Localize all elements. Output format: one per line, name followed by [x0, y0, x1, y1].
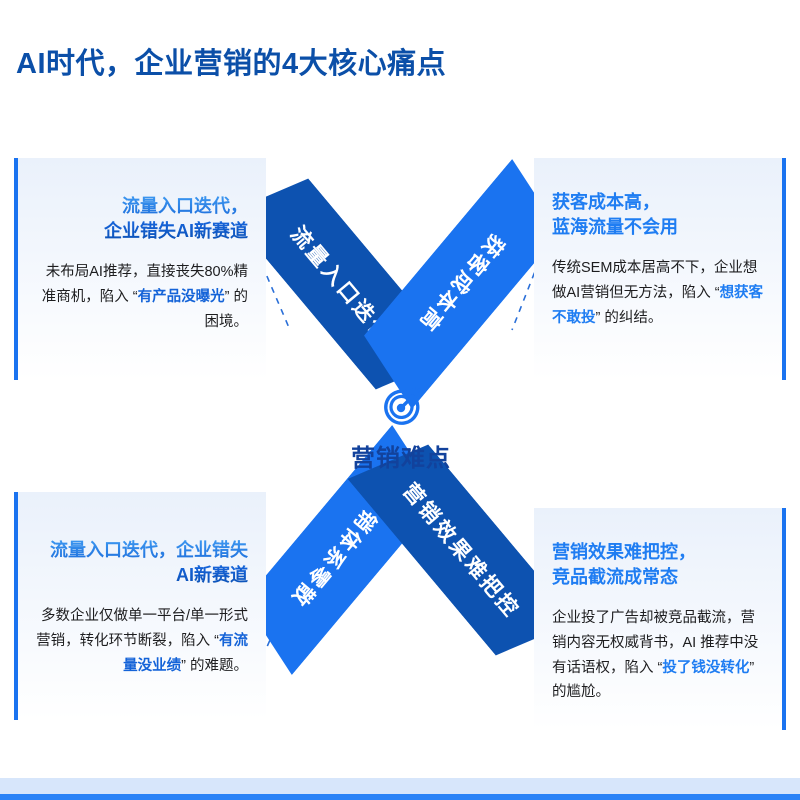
card-heading-line2: AI新赛道: [176, 565, 248, 585]
card-heading: 营销效果难把控， 竞品截流成常态: [552, 540, 764, 590]
card-body-suffix: ” 的纠结。: [596, 310, 663, 326]
diamond-center-hub: 营销难点: [238, 384, 564, 473]
card-heading-line1: 获客成本高，: [552, 192, 660, 212]
bottom-rule: [0, 794, 800, 800]
central-diamond: 流量入口迭代 获客成本高 营销体系零散 营销效果难把控 营销难点: [238, 188, 564, 718]
card-body: 传统SEM成本居高不下，企业想做AI营销但无方法，陷入 “想获客不敢投” 的纠结…: [552, 256, 764, 331]
card-body-highlight: 有产品没曝光: [138, 289, 225, 305]
pain-point-card-bottom-right[interactable]: 营销效果难把控， 竞品截流成常态 企业投了广告却被竞品截流，营销内容无权威背书，…: [534, 508, 786, 730]
card-heading-line2: 竞品截流成常态: [552, 567, 678, 587]
diamond-center-label: 营销难点: [351, 438, 451, 473]
target-goal-icon: [377, 384, 425, 432]
card-body: 多数企业仅做单一平台/单一形式营销，转化环节断裂，陷入 “有流量没业绩” 的难题…: [36, 604, 248, 679]
card-heading-line1: 流量入口迭代，企业错失: [50, 540, 248, 560]
card-heading: 流量入口迭代，企业错失 AI新赛道: [36, 538, 248, 588]
pain-point-card-top-left[interactable]: 流量入口迭代， 企业错失AI新赛道 未布局AI推荐，直接丧失80%精准商机，陷入…: [14, 158, 266, 380]
card-heading: 获客成本高， 蓝海流量不会用: [552, 190, 764, 240]
card-heading-line2: 企业错失AI新赛道: [104, 221, 248, 241]
card-body-highlight: 投了钱没转化: [662, 660, 749, 676]
infographic-page: AI时代，企业营销的4大核心痛点 流量入口迭代 获客成本高 营销体系零散 营销效…: [0, 0, 800, 800]
card-body-suffix: ” 的难题。: [181, 658, 248, 674]
card-body-prefix: 多数企业仅做单一平台/单一形式营销，转化环节断裂，陷入 “: [36, 608, 248, 649]
pain-point-card-top-right[interactable]: 获客成本高， 蓝海流量不会用 传统SEM成本居高不下，企业想做AI营销但无方法，…: [534, 158, 786, 380]
diamond-segment-label: 获客成本高: [412, 228, 512, 339]
card-body: 未布局AI推荐，直接丧失80%精准商机，陷入 “有产品没曝光” 的困境。: [36, 260, 248, 335]
diamond-segment-label: 营销效果难把控: [397, 476, 528, 624]
card-heading-line1: 营销效果难把控，: [552, 542, 696, 562]
pain-point-card-bottom-left[interactable]: 流量入口迭代，企业错失 AI新赛道 多数企业仅做单一平台/单一形式营销，转化环节…: [14, 492, 266, 720]
page-title: AI时代，企业营销的4大核心痛点: [16, 40, 446, 82]
card-heading: 流量入口迭代， 企业错失AI新赛道: [36, 194, 248, 244]
card-body: 企业投了广告却被竞品截流，营销内容无权威背书，AI 推荐中没有话语权，陷入 “投…: [552, 606, 764, 706]
card-heading-line1: 流量入口迭代，: [122, 196, 248, 216]
card-heading-line2: 蓝海流量不会用: [552, 217, 678, 237]
